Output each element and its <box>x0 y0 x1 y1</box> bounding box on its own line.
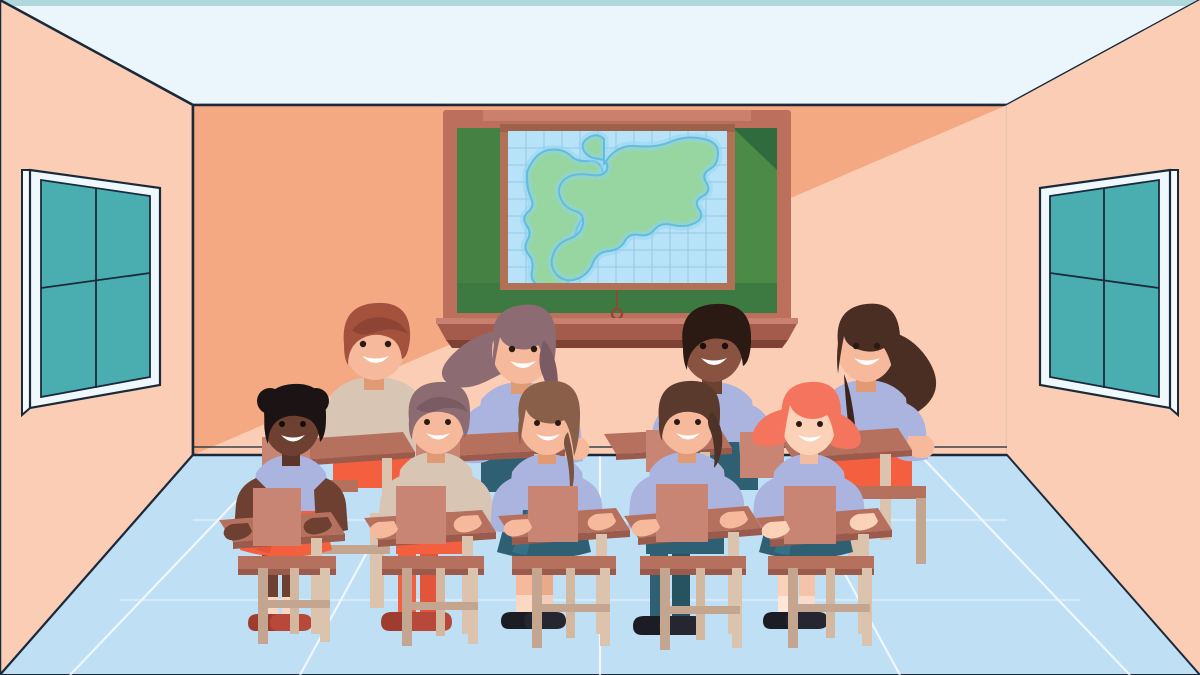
eye-right <box>531 346 537 352</box>
ceiling-edge <box>0 0 1200 6</box>
chair-seat <box>768 556 874 569</box>
classroom-illustration <box>0 0 1200 675</box>
eye-left <box>279 421 285 427</box>
window-right[interactable] <box>1040 170 1178 415</box>
eye-right <box>300 421 306 427</box>
chair-seat-edge <box>768 569 874 575</box>
chair-seat <box>640 556 746 569</box>
eye-left <box>360 341 366 347</box>
eye-right <box>445 419 451 425</box>
shoe-right <box>407 612 452 631</box>
chair-leg-side <box>566 568 575 638</box>
eye-right <box>385 341 391 347</box>
chair-stretcher <box>402 602 478 610</box>
sock-left <box>516 595 532 613</box>
chair-back <box>396 486 446 544</box>
chair-stretcher <box>660 606 740 614</box>
chair-leg-side <box>826 568 835 638</box>
ceiling <box>0 0 1200 105</box>
eye-left <box>853 343 859 349</box>
chalkboard[interactable] <box>436 110 798 348</box>
eye-right <box>817 421 823 427</box>
chair-seat <box>512 556 616 569</box>
chair-stretcher <box>258 600 330 608</box>
screen-border-inner-shade <box>500 124 735 132</box>
chair-stretcher <box>532 604 610 612</box>
hair-bun-left <box>257 388 283 414</box>
eye-left <box>674 419 680 425</box>
eye-left <box>534 420 540 426</box>
eye-right <box>874 343 880 349</box>
eye-left <box>509 346 515 352</box>
chalkboard-frame-top-highlight <box>483 110 751 121</box>
chair-seat-edge <box>640 569 746 575</box>
shoe-right <box>524 612 566 629</box>
hair-bun-right <box>303 388 329 414</box>
chair-leg <box>916 498 926 564</box>
window-left[interactable] <box>22 170 160 415</box>
eye-right <box>722 343 728 349</box>
eye-left <box>796 421 802 427</box>
classroom-scene <box>0 0 1200 675</box>
eye-right <box>695 419 701 425</box>
chair-back <box>784 486 836 544</box>
eye-left <box>700 343 706 349</box>
chair-seat <box>238 556 336 569</box>
pull-down-map-screen[interactable] <box>500 124 735 319</box>
eye-left <box>424 419 430 425</box>
eye-right <box>555 420 561 426</box>
chair-seat <box>382 556 484 569</box>
chair-stretcher <box>788 604 870 612</box>
chair-back <box>528 486 578 542</box>
chair-leg-side <box>696 568 705 640</box>
chair-back <box>253 488 301 546</box>
window-right-outer-frame <box>1170 170 1178 415</box>
window-left-outer-frame <box>22 170 30 415</box>
chair-back <box>656 484 708 542</box>
